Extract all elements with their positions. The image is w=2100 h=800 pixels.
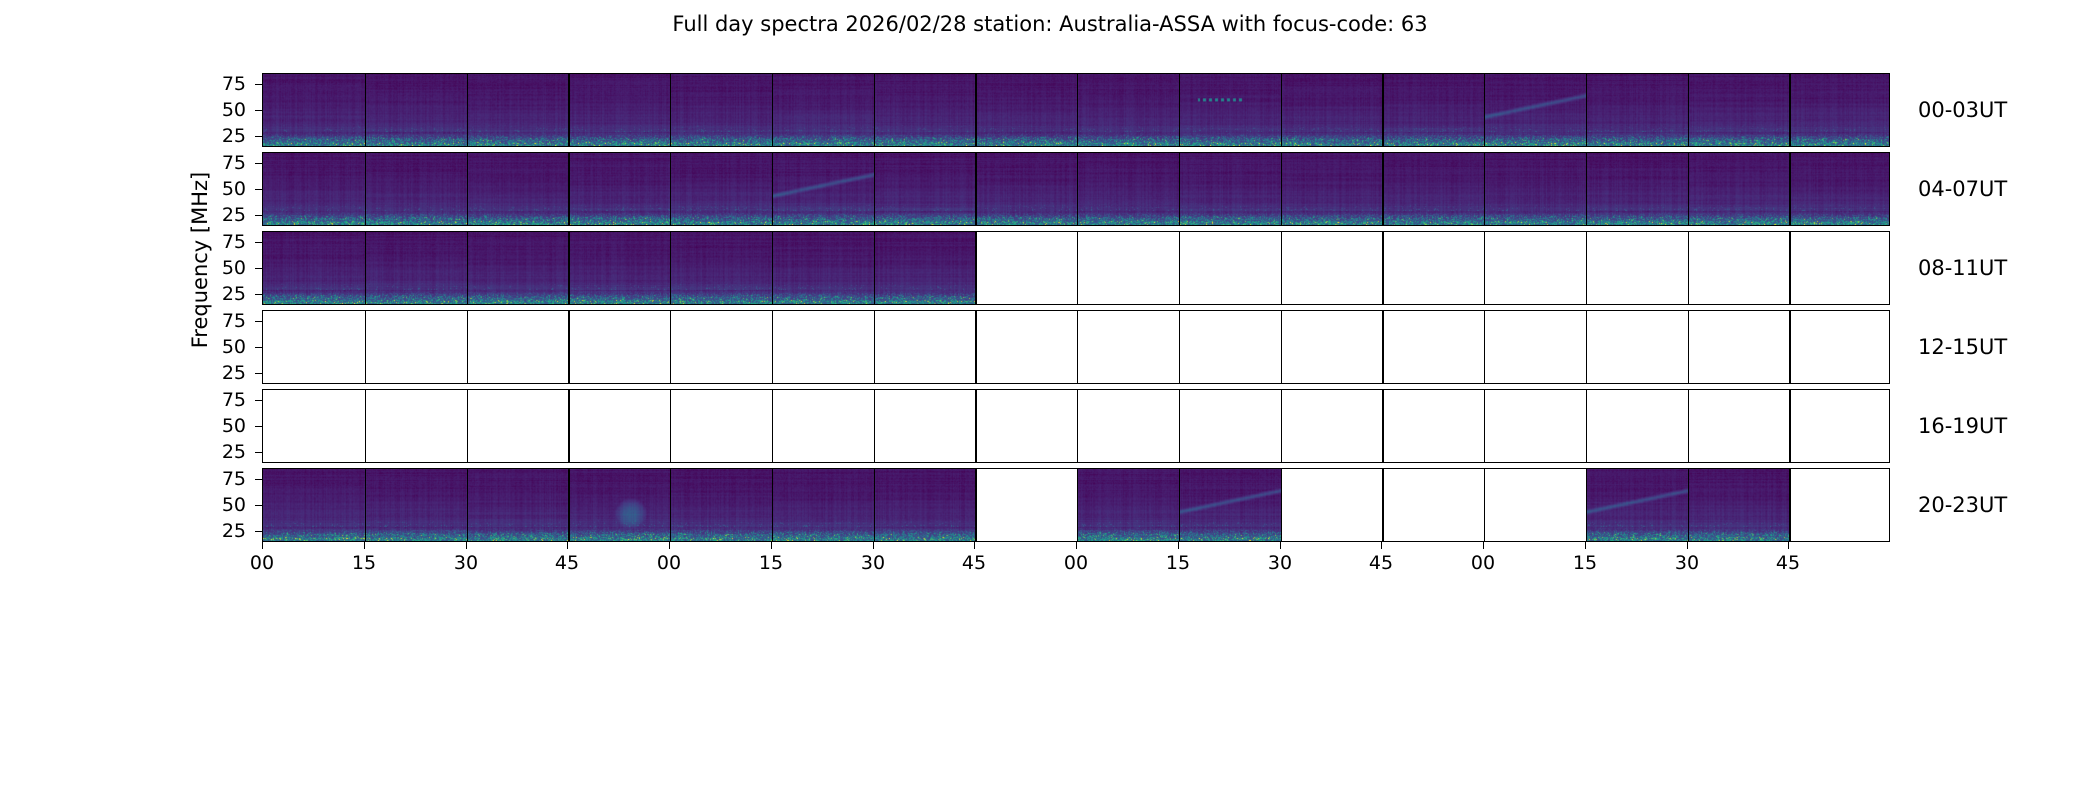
spectrogram-segment bbox=[1077, 153, 1179, 225]
y-tick-mark bbox=[255, 531, 262, 532]
segment-separator bbox=[670, 469, 671, 541]
segment-separator bbox=[1382, 311, 1383, 383]
segment-separator bbox=[874, 390, 875, 462]
x-tick-mark bbox=[567, 542, 568, 549]
segment-separator bbox=[1077, 390, 1078, 462]
segment-separator bbox=[1586, 232, 1587, 304]
segment-separator bbox=[1688, 153, 1689, 225]
y-tick-label: 50 bbox=[200, 494, 246, 516]
segment-separator bbox=[568, 232, 569, 304]
segment-separator bbox=[1789, 311, 1790, 383]
segment-separator bbox=[874, 153, 875, 225]
x-tick-label: 30 bbox=[1675, 552, 1699, 574]
segment-separator bbox=[568, 469, 569, 541]
segment-separator bbox=[1484, 390, 1485, 462]
y-tick-mark bbox=[255, 189, 262, 190]
segment-separator bbox=[1179, 74, 1180, 146]
spectrogram-segment bbox=[365, 232, 467, 304]
x-tick-mark bbox=[1788, 542, 1789, 549]
segment-separator bbox=[365, 153, 366, 225]
x-tick-label: 30 bbox=[454, 552, 478, 574]
y-tick-label: 25 bbox=[200, 283, 246, 305]
y-tick-label: 50 bbox=[200, 415, 246, 437]
segment-separator bbox=[365, 390, 366, 462]
segment-separator bbox=[874, 74, 875, 146]
segment-separator bbox=[975, 469, 976, 541]
segment-separator bbox=[1586, 311, 1587, 383]
segment-separator bbox=[1077, 469, 1078, 541]
segment-separator bbox=[975, 390, 976, 462]
y-tick-mark bbox=[255, 479, 262, 480]
segment-separator bbox=[670, 153, 671, 225]
x-tick-label: 15 bbox=[759, 552, 783, 574]
spectrogram-segment bbox=[467, 153, 569, 225]
x-tick-mark bbox=[1280, 542, 1281, 549]
segment-separator bbox=[1688, 232, 1689, 304]
x-tick-label: 45 bbox=[1776, 552, 1800, 574]
row-label-16-19ut: 16-19UT bbox=[1918, 414, 2007, 438]
x-tick-label: 00 bbox=[1471, 552, 1495, 574]
segment-separator bbox=[772, 390, 773, 462]
x-tick-mark bbox=[1585, 542, 1586, 549]
segment-separator bbox=[1789, 74, 1790, 146]
spectrogram-segment bbox=[1281, 153, 1383, 225]
spectrogram-segment bbox=[1688, 74, 1790, 146]
segment-separator bbox=[874, 232, 875, 304]
y-tick-mark bbox=[255, 268, 262, 269]
spectrogram-segment bbox=[975, 74, 1077, 146]
segment-separator bbox=[975, 311, 976, 383]
segment-separator bbox=[1789, 469, 1790, 541]
segment-separator bbox=[1688, 311, 1689, 383]
x-tick-mark bbox=[1178, 542, 1179, 549]
spectrogram-segment bbox=[1586, 469, 1688, 541]
y-tick-mark bbox=[255, 110, 262, 111]
spectrogram-segment bbox=[975, 153, 1077, 225]
segment-separator bbox=[975, 153, 976, 225]
spectrogram-panel-20-23ut bbox=[262, 468, 1890, 542]
segment-separator bbox=[1688, 74, 1689, 146]
spectrogram-panel-12-15ut bbox=[262, 310, 1890, 384]
y-tick-label: 50 bbox=[200, 336, 246, 358]
spectrogram-segment bbox=[1179, 153, 1281, 225]
segment-separator bbox=[365, 469, 366, 541]
x-tick-mark bbox=[364, 542, 365, 549]
spectrogram-segment bbox=[874, 153, 976, 225]
spectrogram-segment bbox=[1179, 74, 1281, 146]
segment-separator bbox=[1586, 390, 1587, 462]
spectrogram-segment bbox=[467, 74, 569, 146]
segment-separator bbox=[670, 311, 671, 383]
y-tick-mark bbox=[255, 426, 262, 427]
segment-separator bbox=[1281, 232, 1282, 304]
segment-separator bbox=[1484, 232, 1485, 304]
segment-separator bbox=[568, 311, 569, 383]
y-tick-label: 75 bbox=[200, 231, 246, 253]
row-label-08-11ut: 08-11UT bbox=[1918, 256, 2007, 280]
y-tick-label: 50 bbox=[200, 178, 246, 200]
spectrogram-segment bbox=[365, 74, 467, 146]
y-tick-mark bbox=[255, 242, 262, 243]
panel-plot-area bbox=[263, 311, 1889, 383]
segment-separator bbox=[772, 74, 773, 146]
spectrogram-segment bbox=[874, 469, 976, 541]
x-tick-label: 45 bbox=[1369, 552, 1393, 574]
spectrogram-panel-08-11ut bbox=[262, 231, 1890, 305]
segment-separator bbox=[1586, 74, 1587, 146]
spectrogram-segment bbox=[1688, 153, 1790, 225]
spectrogram-segment bbox=[467, 232, 569, 304]
spectrogram-segment bbox=[874, 74, 976, 146]
spectrogram-segment bbox=[263, 469, 365, 541]
segment-separator bbox=[568, 390, 569, 462]
y-tick-mark bbox=[255, 452, 262, 453]
x-tick-mark bbox=[466, 542, 467, 549]
x-tick-mark bbox=[1381, 542, 1382, 549]
segment-separator bbox=[467, 469, 468, 541]
y-tick-mark bbox=[255, 84, 262, 85]
segment-separator bbox=[467, 74, 468, 146]
y-tick-mark bbox=[255, 215, 262, 216]
spectrogram-segment bbox=[263, 74, 365, 146]
spectrogram-segment bbox=[1077, 469, 1179, 541]
x-tick-mark bbox=[1483, 542, 1484, 549]
y-tick-label: 75 bbox=[200, 389, 246, 411]
spectrogram-segment bbox=[568, 469, 670, 541]
spectrogram-segment bbox=[670, 469, 772, 541]
row-label-12-15ut: 12-15UT bbox=[1918, 335, 2007, 359]
segment-separator bbox=[1382, 153, 1383, 225]
segment-separator bbox=[568, 74, 569, 146]
spectrogram-segment bbox=[1382, 74, 1484, 146]
x-tick-label: 30 bbox=[1268, 552, 1292, 574]
x-tick-label: 15 bbox=[1166, 552, 1190, 574]
segment-separator bbox=[1789, 153, 1790, 225]
segment-separator bbox=[1789, 232, 1790, 304]
spectrogram-segment bbox=[568, 74, 670, 146]
segment-separator bbox=[1586, 153, 1587, 225]
spectrogram-figure: Full day spectra 2026/02/28 station: Aus… bbox=[0, 0, 2100, 800]
panel-plot-area bbox=[263, 74, 1889, 146]
spectrogram-segment bbox=[1484, 153, 1586, 225]
segment-separator bbox=[1179, 232, 1180, 304]
y-tick-mark bbox=[255, 347, 262, 348]
spectrogram-segment bbox=[1382, 153, 1484, 225]
y-tick-label: 75 bbox=[200, 73, 246, 95]
segment-separator bbox=[467, 153, 468, 225]
spectrogram-segment bbox=[1484, 74, 1586, 146]
segment-separator bbox=[365, 232, 366, 304]
y-tick-label: 25 bbox=[200, 125, 246, 147]
segment-separator bbox=[1077, 153, 1078, 225]
segment-separator bbox=[1179, 469, 1180, 541]
spectrogram-segment bbox=[1688, 469, 1790, 541]
spectrogram-panel-00-03ut bbox=[262, 73, 1890, 147]
y-tick-mark bbox=[255, 163, 262, 164]
segment-separator bbox=[1281, 311, 1282, 383]
segment-separator bbox=[1484, 469, 1485, 541]
panel-plot-area bbox=[263, 390, 1889, 462]
spectrogram-panel-16-19ut bbox=[262, 389, 1890, 463]
segment-separator bbox=[772, 153, 773, 225]
segment-separator bbox=[874, 469, 875, 541]
segment-separator bbox=[467, 232, 468, 304]
segment-separator bbox=[874, 311, 875, 383]
spectrogram-segment bbox=[568, 153, 670, 225]
x-tick-label: 30 bbox=[861, 552, 885, 574]
spectrogram-segment bbox=[1281, 74, 1383, 146]
y-tick-mark bbox=[255, 373, 262, 374]
panel-plot-area bbox=[263, 153, 1889, 225]
spectrogram-segment bbox=[772, 232, 874, 304]
y-tick-mark bbox=[255, 136, 262, 137]
spectrogram-segment bbox=[772, 74, 874, 146]
segment-separator bbox=[772, 232, 773, 304]
segment-separator bbox=[1281, 74, 1282, 146]
spectrogram-segment bbox=[772, 153, 874, 225]
segment-separator bbox=[1382, 74, 1383, 146]
row-label-00-03ut: 00-03UT bbox=[1918, 98, 2007, 122]
spectrogram-segment bbox=[670, 232, 772, 304]
spectrogram-segment bbox=[1586, 153, 1688, 225]
x-tick-label: 15 bbox=[1573, 552, 1597, 574]
spectrogram-segment bbox=[670, 74, 772, 146]
spectrogram-segment bbox=[263, 232, 365, 304]
segment-separator bbox=[772, 469, 773, 541]
y-tick-mark bbox=[255, 505, 262, 506]
spectrogram-segment bbox=[1179, 469, 1281, 541]
spectrogram-segment bbox=[568, 232, 670, 304]
segment-separator bbox=[1688, 390, 1689, 462]
x-tick-mark bbox=[1687, 542, 1688, 549]
x-tick-mark bbox=[974, 542, 975, 549]
x-tick-mark bbox=[771, 542, 772, 549]
segment-separator bbox=[467, 390, 468, 462]
x-tick-label: 45 bbox=[555, 552, 579, 574]
row-label-20-23ut: 20-23UT bbox=[1918, 493, 2007, 517]
segment-separator bbox=[670, 232, 671, 304]
segment-separator bbox=[670, 390, 671, 462]
y-tick-label: 25 bbox=[200, 520, 246, 542]
segment-separator bbox=[1179, 153, 1180, 225]
y-tick-label: 75 bbox=[200, 152, 246, 174]
segment-separator bbox=[1382, 469, 1383, 541]
segment-separator bbox=[467, 311, 468, 383]
x-tick-mark bbox=[1076, 542, 1077, 549]
y-tick-label: 75 bbox=[200, 468, 246, 490]
y-tick-label: 25 bbox=[200, 362, 246, 384]
y-tick-label: 75 bbox=[200, 310, 246, 332]
segment-separator bbox=[1586, 469, 1587, 541]
y-tick-label: 25 bbox=[200, 441, 246, 463]
x-tick-mark bbox=[669, 542, 670, 549]
segment-separator bbox=[1484, 153, 1485, 225]
segment-separator bbox=[1484, 311, 1485, 383]
x-tick-label: 15 bbox=[352, 552, 376, 574]
segment-separator bbox=[975, 74, 976, 146]
segment-separator bbox=[1077, 74, 1078, 146]
spectrogram-segment bbox=[365, 153, 467, 225]
spectrogram-segment bbox=[1789, 74, 1889, 146]
spectrogram-segment bbox=[365, 469, 467, 541]
x-tick-mark bbox=[873, 542, 874, 549]
page-title: Full day spectra 2026/02/28 station: Aus… bbox=[0, 12, 2100, 36]
y-tick-mark bbox=[255, 400, 262, 401]
x-tick-label: 00 bbox=[657, 552, 681, 574]
segment-separator bbox=[975, 232, 976, 304]
segment-separator bbox=[1077, 232, 1078, 304]
y-tick-mark bbox=[255, 294, 262, 295]
segment-separator bbox=[365, 311, 366, 383]
spectrogram-segment bbox=[467, 469, 569, 541]
segment-separator bbox=[1077, 311, 1078, 383]
y-tick-label: 25 bbox=[200, 204, 246, 226]
spectrogram-segment bbox=[263, 153, 365, 225]
spectrogram-segment bbox=[1789, 153, 1889, 225]
y-tick-label: 50 bbox=[200, 99, 246, 121]
segment-separator bbox=[1688, 469, 1689, 541]
spectrogram-segment bbox=[1077, 74, 1179, 146]
spectrogram-segment bbox=[670, 153, 772, 225]
segment-separator bbox=[1382, 390, 1383, 462]
segment-separator bbox=[568, 153, 569, 225]
y-tick-mark bbox=[255, 321, 262, 322]
x-tick-label: 00 bbox=[250, 552, 274, 574]
x-tick-label: 45 bbox=[962, 552, 986, 574]
panel-plot-area bbox=[263, 469, 1889, 541]
segment-separator bbox=[1484, 74, 1485, 146]
segment-separator bbox=[1281, 390, 1282, 462]
panel-plot-area bbox=[263, 232, 1889, 304]
spectrogram-segment bbox=[772, 469, 874, 541]
segment-separator bbox=[1281, 469, 1282, 541]
segment-separator bbox=[1382, 232, 1383, 304]
segment-separator bbox=[1179, 390, 1180, 462]
x-tick-mark bbox=[262, 542, 263, 549]
spectrogram-segment bbox=[1586, 74, 1688, 146]
y-tick-label: 50 bbox=[200, 257, 246, 279]
segment-separator bbox=[365, 74, 366, 146]
segment-separator bbox=[772, 311, 773, 383]
segment-separator bbox=[1789, 390, 1790, 462]
segment-separator bbox=[1179, 311, 1180, 383]
segment-separator bbox=[1281, 153, 1282, 225]
x-tick-label: 00 bbox=[1064, 552, 1088, 574]
spectrogram-panel-04-07ut bbox=[262, 152, 1890, 226]
row-label-04-07ut: 04-07UT bbox=[1918, 177, 2007, 201]
spectrogram-segment bbox=[874, 232, 976, 304]
segment-separator bbox=[670, 74, 671, 146]
